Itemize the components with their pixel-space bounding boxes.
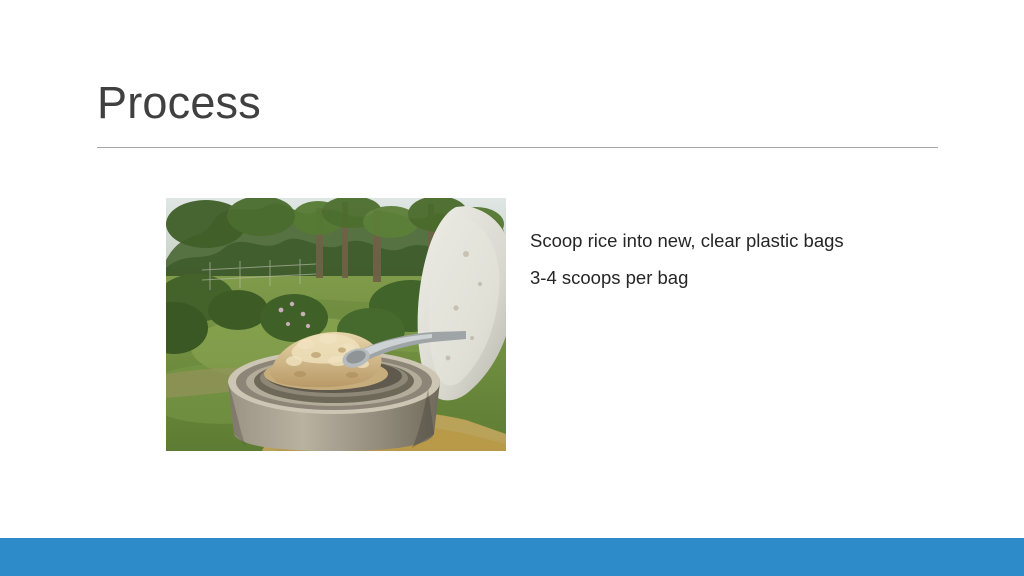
body-line-1: Scoop rice into new, clear plastic bags [530, 232, 950, 251]
title-divider [97, 147, 938, 148]
footer-accent-bar [0, 538, 1024, 576]
body-text-block: Scoop rice into new, clear plastic bags … [530, 232, 950, 305]
body-line-2: 3-4 scoops per bag [530, 269, 950, 288]
page-title: Process [97, 78, 261, 128]
slide-canvas: Process [0, 0, 1024, 576]
rice-cooker-photo-illustration [166, 198, 506, 451]
slide-image [166, 198, 506, 451]
